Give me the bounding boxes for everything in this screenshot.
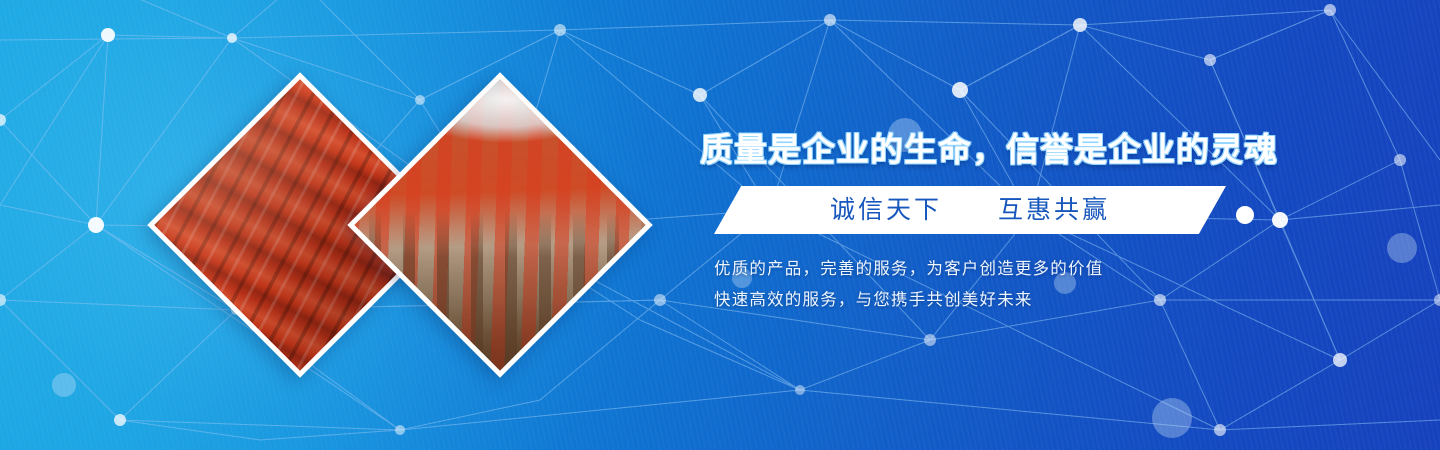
banner-subtitle: 诚信天下 互惠共赢 [714,186,1226,234]
banner-text-block: 质量是企业的生命，信誉是企业的灵魂 诚信天下 互惠共赢 优质的产品，完善的服务，… [700,128,1260,316]
banner-headline: 质量是企业的生命，信誉是企业的灵魂 [700,128,1260,172]
promo-banner: 质量是企业的生命，信誉是企业的灵魂 诚信天下 互惠共赢 优质的产品，完善的服务，… [0,0,1440,450]
banner-taglines: 优质的产品，完善的服务，为客户创造更多的价值 快速高效的服务，与您携手共创美好未… [714,254,1260,316]
product-image-diamond-2[interactable] [347,72,652,377]
subtitle-parallelogram-band: 诚信天下 互惠共赢 [714,186,1226,234]
red-couplings-on-pallets-image [354,79,645,370]
diamond-2-clip [354,79,645,370]
tagline-line-2: 快速高效的服务，与您携手共创美好未来 [714,285,1260,316]
tagline-line-1: 优质的产品，完善的服务，为客户创造更多的价值 [714,254,1260,285]
